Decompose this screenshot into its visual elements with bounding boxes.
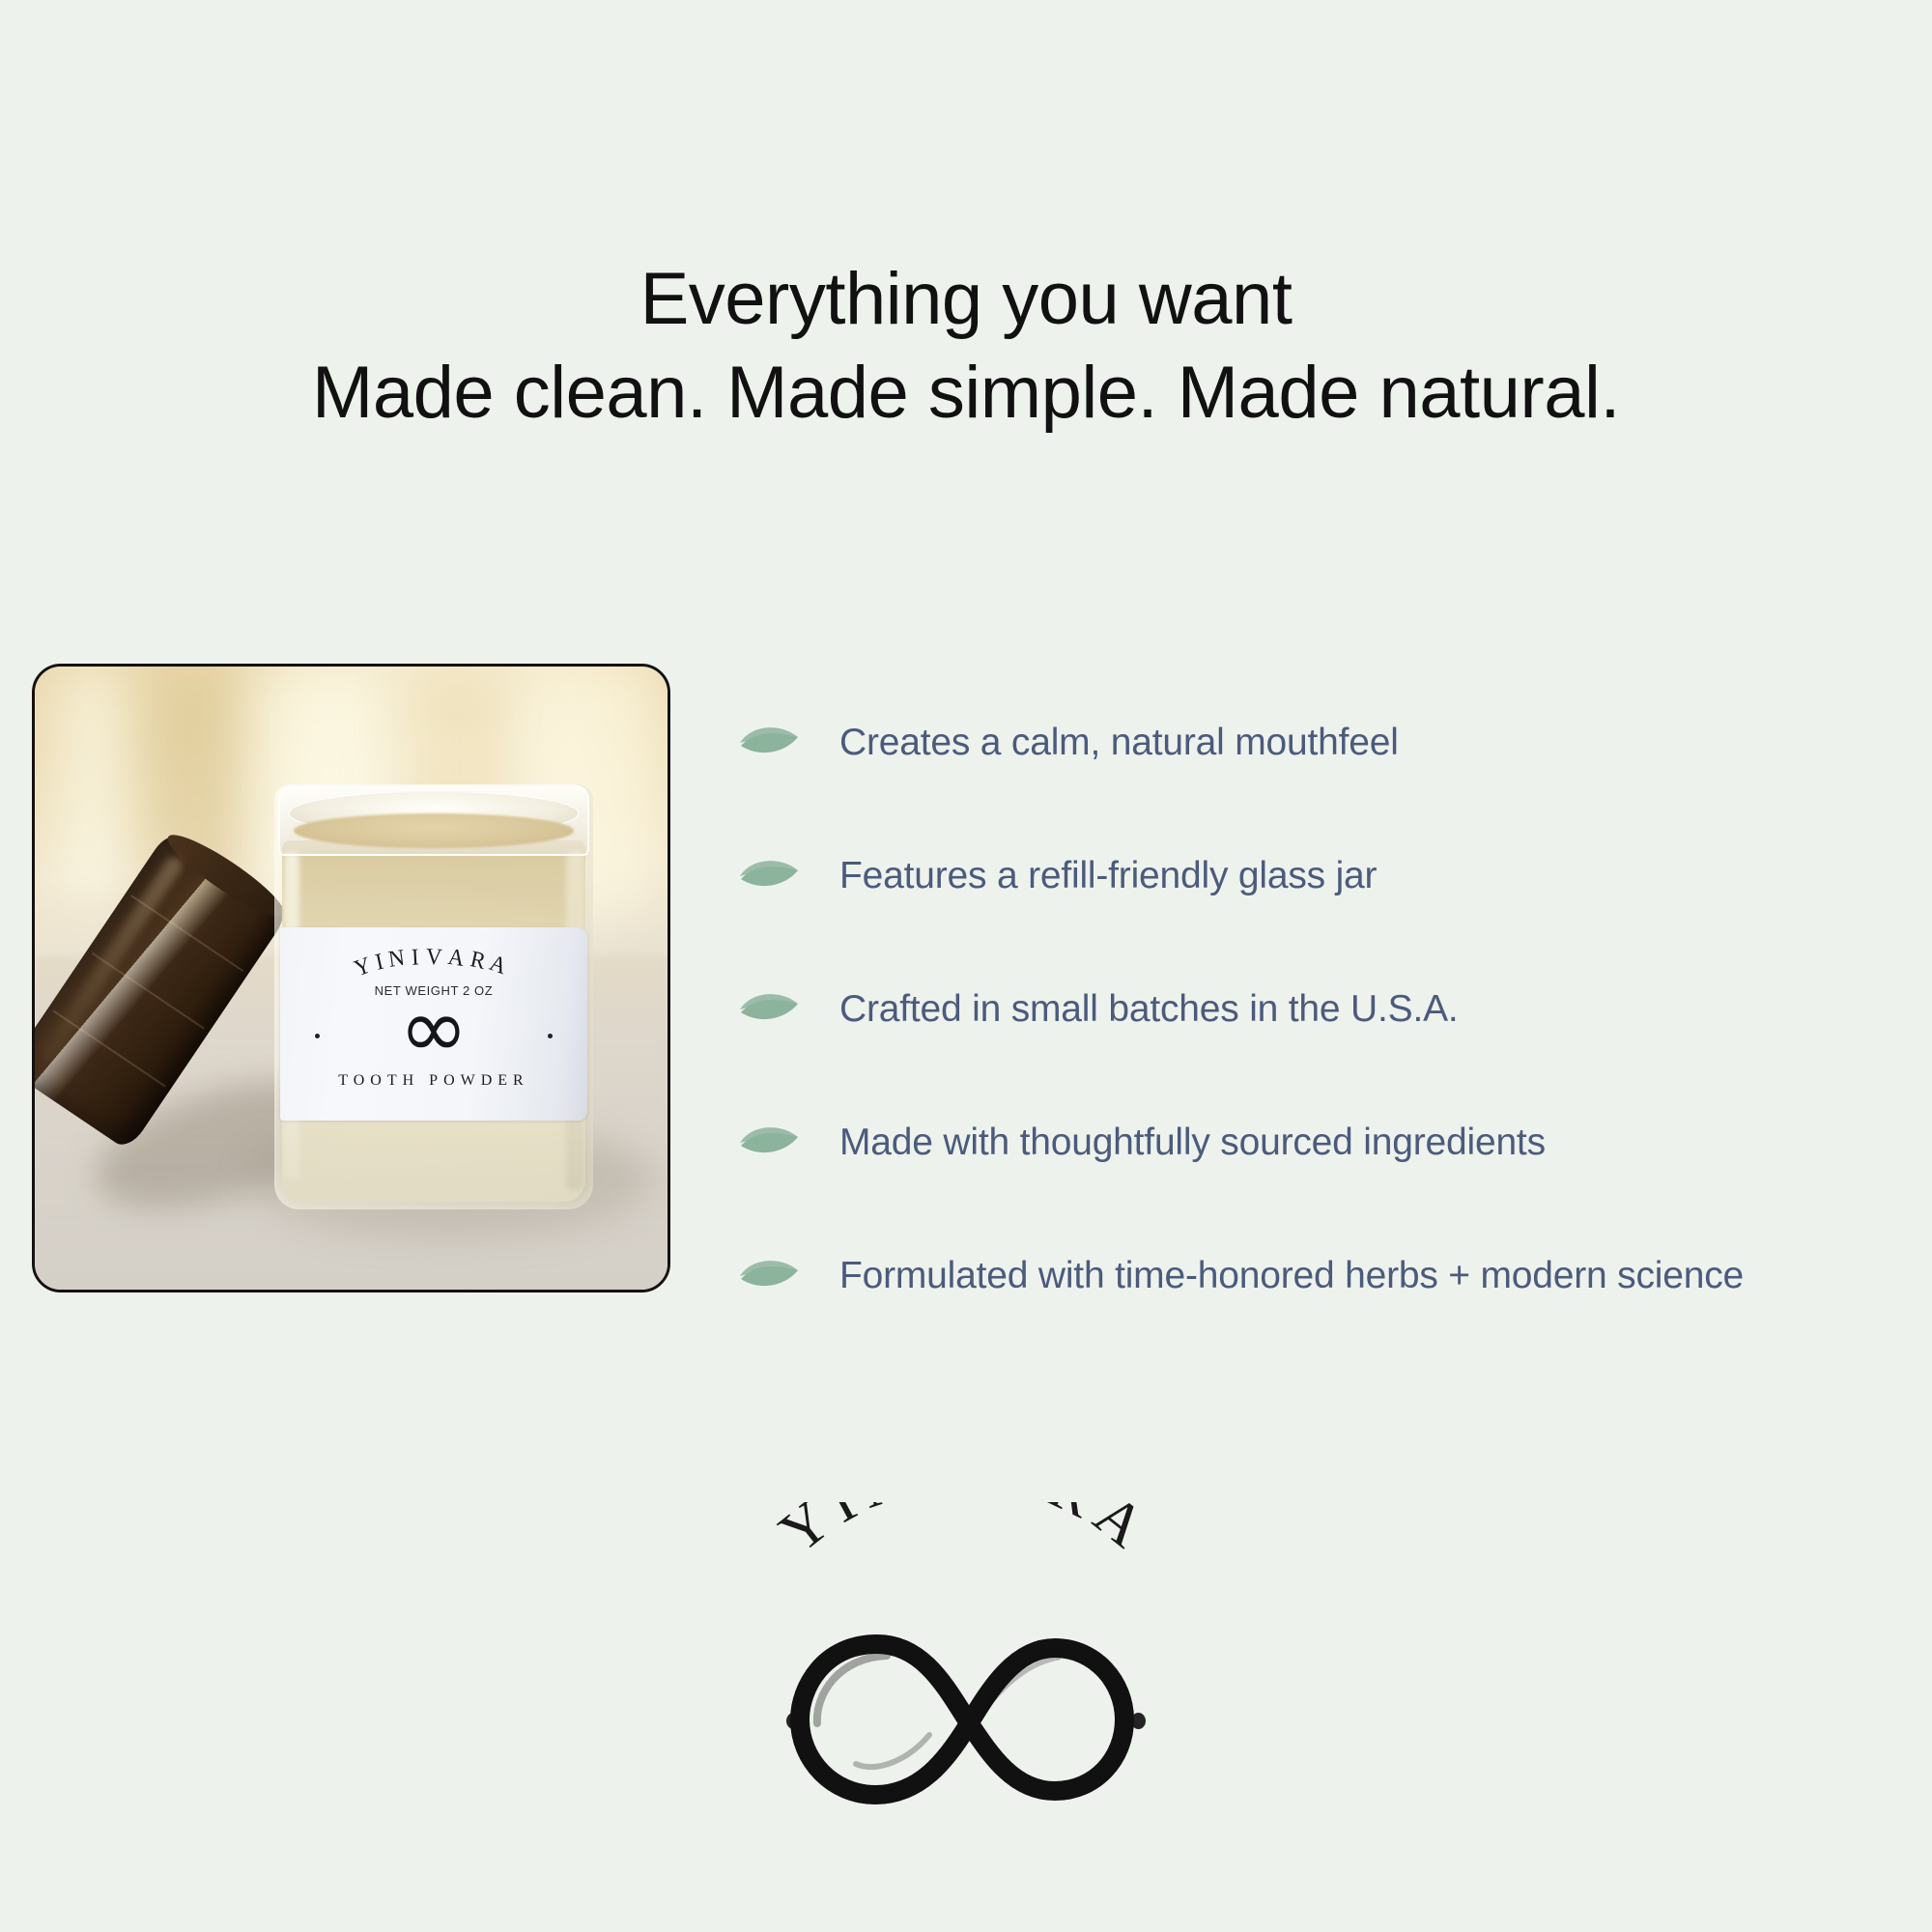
brand-logo: YINIVARA <box>676 1502 1256 1918</box>
list-item: Made with thoughtfully sourced ingredien… <box>739 1076 1913 1209</box>
product-label: YINIVARA ∞ TOOTH POWDER <box>280 927 587 1121</box>
leaf-icon <box>739 987 799 1032</box>
benefit-text: Crafted in small batches in the U.S.A. <box>839 989 1459 1031</box>
benefit-text: Formulated with time-honored herbs + mod… <box>839 1256 1744 1297</box>
leaf-icon <box>739 721 799 765</box>
label-product-name: TOOTH POWDER <box>280 1072 587 1090</box>
logo-brand-name: YINIVARA <box>768 1502 1164 1566</box>
list-item: Features a refill-friendly glass jar <box>739 810 1913 943</box>
benefit-text: Creates a calm, natural mouthfeel <box>839 723 1399 764</box>
label-brand-letter: N <box>387 944 413 973</box>
list-item: Creates a calm, natural mouthfeel <box>739 676 1913 810</box>
leaf-icon <box>739 1121 799 1165</box>
label-infinity-icon: ∞ <box>280 987 587 1070</box>
label-brand-name: YINIVARA <box>280 944 587 970</box>
logo-brand-textpath: YINIVARA <box>768 1502 1164 1566</box>
benefit-text: Features a refill-friendly glass jar <box>839 856 1377 897</box>
product-photo: YINIVARA ∞ TOOTH POWDER NET WEIGHT 2 OZ <box>35 667 668 1290</box>
logo-infinity-icon <box>676 1594 1256 1850</box>
tooth-powder <box>294 813 574 848</box>
label-net-weight: NET WEIGHT 2 OZ <box>274 983 593 998</box>
leaf-icon <box>739 1254 799 1298</box>
headline-line-2: Made clean. Made simple. Made natural. <box>0 347 1932 440</box>
label-brand-arc: YINIVARA <box>352 944 516 970</box>
benefits-list: Creates a calm, natural mouthfeel Featur… <box>739 676 1913 1343</box>
glass-jar: YINIVARA ∞ TOOTH POWDER NET WEIGHT 2 OZ <box>274 784 593 1209</box>
page-title: Everything you want Made clean. Made sim… <box>0 253 1932 440</box>
list-item: Formulated with time-honored herbs + mod… <box>739 1209 1913 1343</box>
list-item: Crafted in small batches in the U.S.A. <box>739 943 1913 1076</box>
background-light-shaft <box>58 667 128 898</box>
leaf-icon <box>739 854 799 898</box>
benefit-text: Made with thoughtfully sourced ingredien… <box>839 1122 1546 1164</box>
infinity-brushstroke-icon <box>763 1594 1169 1845</box>
product-image-card: YINIVARA ∞ TOOTH POWDER NET WEIGHT 2 OZ <box>32 664 670 1293</box>
headline-line-1: Everything you want <box>0 253 1932 347</box>
label-brand-letter: V <box>425 944 449 972</box>
label-brand-letter: I <box>411 944 426 971</box>
